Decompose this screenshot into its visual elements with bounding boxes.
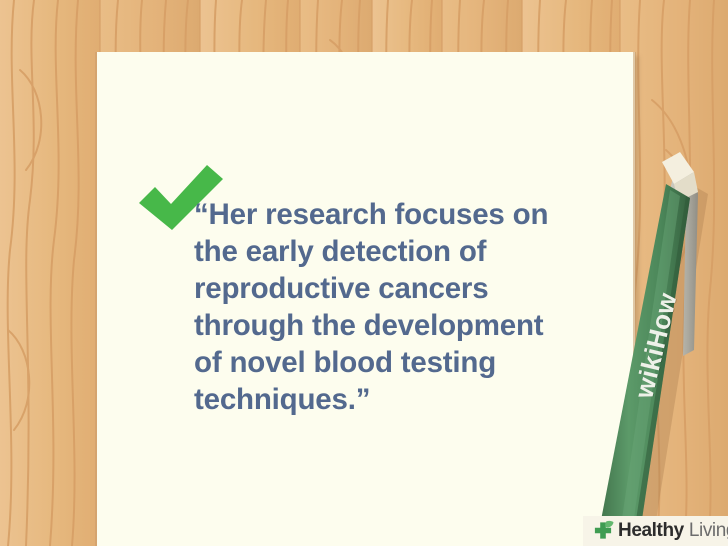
illustration-scene: “Her research focuses on the early detec… bbox=[0, 0, 728, 546]
quote-text: “Her research focuses on the early detec… bbox=[194, 196, 574, 418]
brand-name: Healthy bbox=[618, 520, 684, 542]
brand-subname: Living bbox=[689, 520, 728, 542]
paper-right-edge bbox=[633, 52, 636, 546]
brand-watermark: Healthy Living bbox=[583, 516, 728, 546]
healthy-living-plus-leaf-icon bbox=[591, 519, 615, 543]
